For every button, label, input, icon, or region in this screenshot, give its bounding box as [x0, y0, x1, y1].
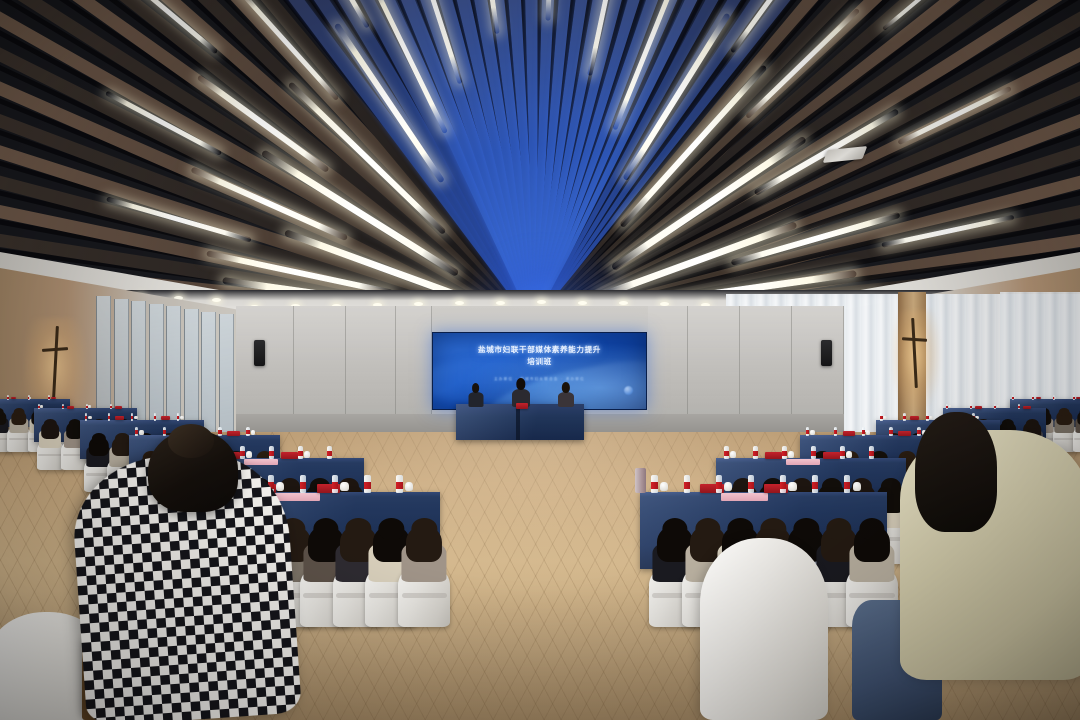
water-bottle: [812, 475, 818, 493]
audience-attendee: [86, 433, 111, 467]
speaker-head: [562, 382, 570, 393]
water-bottle: [903, 413, 906, 420]
thermos: [635, 468, 646, 493]
attendee-head: [1059, 408, 1070, 416]
water-bottle: [880, 413, 883, 420]
water-bottle-label: [62, 406, 64, 408]
attendee-head: [313, 518, 338, 540]
water-bottle: [946, 404, 948, 409]
teacup: [846, 451, 852, 458]
glass-partition-left: [201, 312, 216, 436]
water-bottle-label: [246, 430, 249, 434]
water-bottle-label: [811, 451, 816, 456]
teacup: [246, 451, 252, 458]
water-bottle: [840, 446, 845, 459]
water-bottle: [218, 427, 221, 437]
water-bottle: [834, 427, 837, 437]
water-bottle: [1073, 395, 1075, 400]
name-card: [1023, 406, 1030, 409]
water-bottle-label: [862, 430, 865, 434]
water-bottle-label: [812, 482, 818, 490]
attendee-head: [14, 408, 25, 416]
ceiling-downlight: [537, 300, 546, 304]
teacup: [134, 416, 137, 420]
screen-title-text: 盐城市妇联干部媒体素养能力提升 培训班: [444, 344, 636, 368]
teacup: [949, 405, 952, 408]
attendee-head: [68, 419, 80, 429]
teacup: [251, 430, 255, 435]
water-bottle: [844, 475, 850, 493]
attendee-head: [695, 518, 720, 540]
water-bottle-label: [7, 397, 9, 399]
water-bottle-label: [780, 482, 786, 490]
speaker-head: [472, 383, 480, 393]
attendee-head: [1026, 419, 1038, 429]
water-bottle-label: [218, 430, 221, 434]
attendee-head: [859, 518, 884, 540]
water-bottle-label: [834, 430, 837, 434]
teacup: [810, 430, 814, 435]
water-bottle-label: [926, 416, 929, 419]
water-bottle-label: [946, 406, 948, 408]
notepad: [721, 493, 768, 501]
water-bottle-label: [135, 430, 138, 434]
water-bottle-label: [880, 416, 883, 419]
name-card: [161, 416, 171, 420]
water-bottle: [163, 427, 166, 437]
water-bottle: [246, 427, 249, 437]
water-bottle-label: [889, 430, 892, 434]
attendee-head: [379, 518, 404, 540]
water-bottle-label: [1018, 406, 1020, 408]
teacup: [88, 405, 91, 408]
water-bottle-label: [840, 451, 845, 456]
water-bottle: [108, 413, 111, 420]
water-bottle: [889, 427, 892, 437]
notepad: [273, 493, 320, 501]
attendee-head: [115, 433, 129, 445]
water-bottle-label: [131, 416, 134, 419]
teacup: [29, 397, 31, 399]
water-bottle-label: [684, 482, 690, 490]
screen-title-line-2: 培训班: [444, 356, 636, 368]
attendee-head: [827, 518, 852, 540]
speaker-torso: [468, 392, 483, 407]
teacup: [788, 482, 796, 491]
water-bottle-label: [364, 482, 370, 490]
water-bottle-label: [298, 451, 303, 456]
water-bottle: [926, 413, 929, 420]
water-bottle-label: [108, 416, 111, 419]
wood-slat-ceiling: [0, 0, 1080, 330]
water-bottle: [651, 475, 657, 493]
name-card: [115, 406, 122, 409]
water-bottle-label: [1032, 397, 1034, 399]
water-bottle-label: [844, 482, 850, 490]
speaker-torso: [558, 392, 574, 408]
head-table: [456, 404, 584, 440]
water-bottle-label: [869, 451, 874, 456]
water-bottle: [970, 404, 972, 409]
attendee-head: [1002, 419, 1014, 429]
teacup: [1054, 397, 1056, 399]
teacup: [40, 405, 43, 408]
audience-attendee: [850, 518, 895, 582]
water-bottle-label: [753, 451, 758, 456]
audience-attendee: [1075, 408, 1080, 433]
audience-attendee: [0, 408, 8, 433]
water-bottle: [994, 404, 996, 409]
ceiling-downlight: [578, 301, 587, 305]
ceiling-downlight: [212, 298, 221, 302]
water-bottle-label: [716, 482, 722, 490]
head-table-speaker: [558, 382, 574, 407]
water-bottle: [780, 475, 786, 493]
water-bottle-label: [396, 482, 402, 490]
water-bottle: [869, 446, 874, 459]
water-bottle-label: [300, 482, 306, 490]
name-card: [765, 452, 782, 459]
teacup: [853, 482, 861, 491]
water-bottle-label: [154, 416, 157, 419]
teacup: [405, 482, 413, 491]
attendee-head: [728, 518, 753, 540]
water-bottle-label: [332, 482, 338, 490]
teacup: [276, 482, 284, 491]
loudspeaker-left-icon: [254, 340, 265, 366]
water-bottle: [806, 427, 809, 437]
water-bottle-label: [651, 482, 657, 490]
attendee-head: [346, 518, 371, 540]
water-bottle: [684, 475, 690, 493]
teacup: [883, 416, 886, 420]
water-bottle: [782, 446, 787, 459]
water-bottle-label: [327, 451, 332, 456]
teacup: [730, 451, 736, 458]
water-bottle-label: [724, 451, 729, 456]
water-bottle: [135, 427, 138, 437]
name-card: [975, 406, 982, 409]
ceiling-downlight: [496, 301, 505, 305]
wall-sconce-glow-right: [892, 310, 940, 410]
name-card: [910, 416, 920, 420]
water-bottle: [85, 413, 88, 420]
attendee-checkered-coat-hair-bun: [168, 424, 214, 458]
teacup: [180, 416, 183, 420]
teacup: [88, 416, 91, 420]
audience-attendee: [39, 419, 61, 448]
teacup: [1014, 397, 1016, 399]
water-bottle: [716, 475, 722, 493]
audience-attendee: [1055, 408, 1074, 433]
name-card: [67, 406, 74, 409]
water-bottle-label: [177, 416, 180, 419]
water-bottle: [269, 446, 274, 459]
water-bottle: [364, 475, 370, 493]
teacup: [788, 451, 794, 458]
water-bottle: [811, 446, 816, 459]
water-bottle-label: [85, 416, 88, 419]
notepad: [244, 459, 278, 465]
head-table-seam: [516, 408, 520, 440]
attendee-head: [794, 518, 819, 540]
attendee-head: [662, 518, 687, 540]
teacup: [724, 482, 732, 491]
water-bottle-label: [269, 451, 274, 456]
water-bottle: [110, 404, 112, 409]
water-bottle-label: [903, 416, 906, 419]
water-bottle: [396, 475, 402, 493]
audience-attendee: [402, 518, 447, 582]
teacup: [866, 430, 870, 435]
audience-attendee: [9, 408, 28, 433]
name-card: [823, 452, 840, 459]
water-bottle-label: [1073, 397, 1075, 399]
teacup: [139, 430, 143, 435]
water-bottle: [48, 395, 50, 400]
name-card: [227, 431, 240, 436]
water-bottle: [332, 475, 338, 493]
foreground-chair-center[interactable]: [700, 538, 828, 720]
water-bottle: [300, 475, 306, 493]
teacup: [660, 482, 668, 491]
water-bottle-label: [917, 430, 920, 434]
teacup: [304, 451, 310, 458]
attendee-head: [412, 518, 437, 540]
name-card: [898, 431, 911, 436]
head-table-speaker: [468, 383, 483, 407]
water-bottle: [753, 446, 758, 459]
screen-subtitle-text: 主办单位 · 盐城市妇女联合会 · 承办单位: [450, 377, 629, 382]
head-table-name-card: [516, 403, 528, 409]
water-bottle-label: [240, 451, 245, 456]
glass-partition-left: [184, 309, 199, 436]
water-bottle: [62, 404, 64, 409]
attendee-head: [761, 518, 786, 540]
water-bottle-label: [782, 451, 787, 456]
water-bottle: [240, 446, 245, 459]
attendee-head: [92, 433, 106, 445]
name-card: [843, 431, 856, 436]
water-bottle: [917, 427, 920, 437]
screen-title-line-1: 盐城市妇联干部媒体素养能力提升: [444, 344, 636, 356]
glass-partition-left: [219, 314, 234, 435]
loudspeaker-right-icon: [821, 340, 832, 366]
attendee-beige-jacket-hair: [915, 412, 997, 532]
water-bottle: [862, 427, 865, 437]
water-bottle-label: [163, 430, 166, 434]
conference-hall-photo: 盐城市妇联干部媒体素养能力提升 培训班 主办单位 · 盐城市妇女联合会 · 承办…: [0, 0, 1080, 720]
water-bottle-label: [748, 482, 754, 490]
water-bottle-label: [970, 406, 972, 408]
name-card: [1076, 397, 1080, 399]
water-bottle: [724, 446, 729, 459]
water-bottle-label: [110, 406, 112, 408]
teacup: [340, 482, 348, 491]
teacup: [929, 416, 932, 420]
name-card: [115, 416, 125, 420]
water-bottle-label: [48, 397, 50, 399]
water-bottle: [748, 475, 754, 493]
water-bottle-label: [994, 406, 996, 408]
water-bottle-label: [806, 430, 809, 434]
name-card: [281, 452, 298, 459]
notepad: [786, 459, 820, 465]
water-bottle: [327, 446, 332, 459]
water-bottle: [298, 446, 303, 459]
attendee-head: [44, 419, 56, 429]
projection-screen[interactable]: 盐城市妇联干部媒体素养能力提升 培训班 主办单位 · 盐城市妇女联合会 · 承办…: [432, 332, 647, 410]
